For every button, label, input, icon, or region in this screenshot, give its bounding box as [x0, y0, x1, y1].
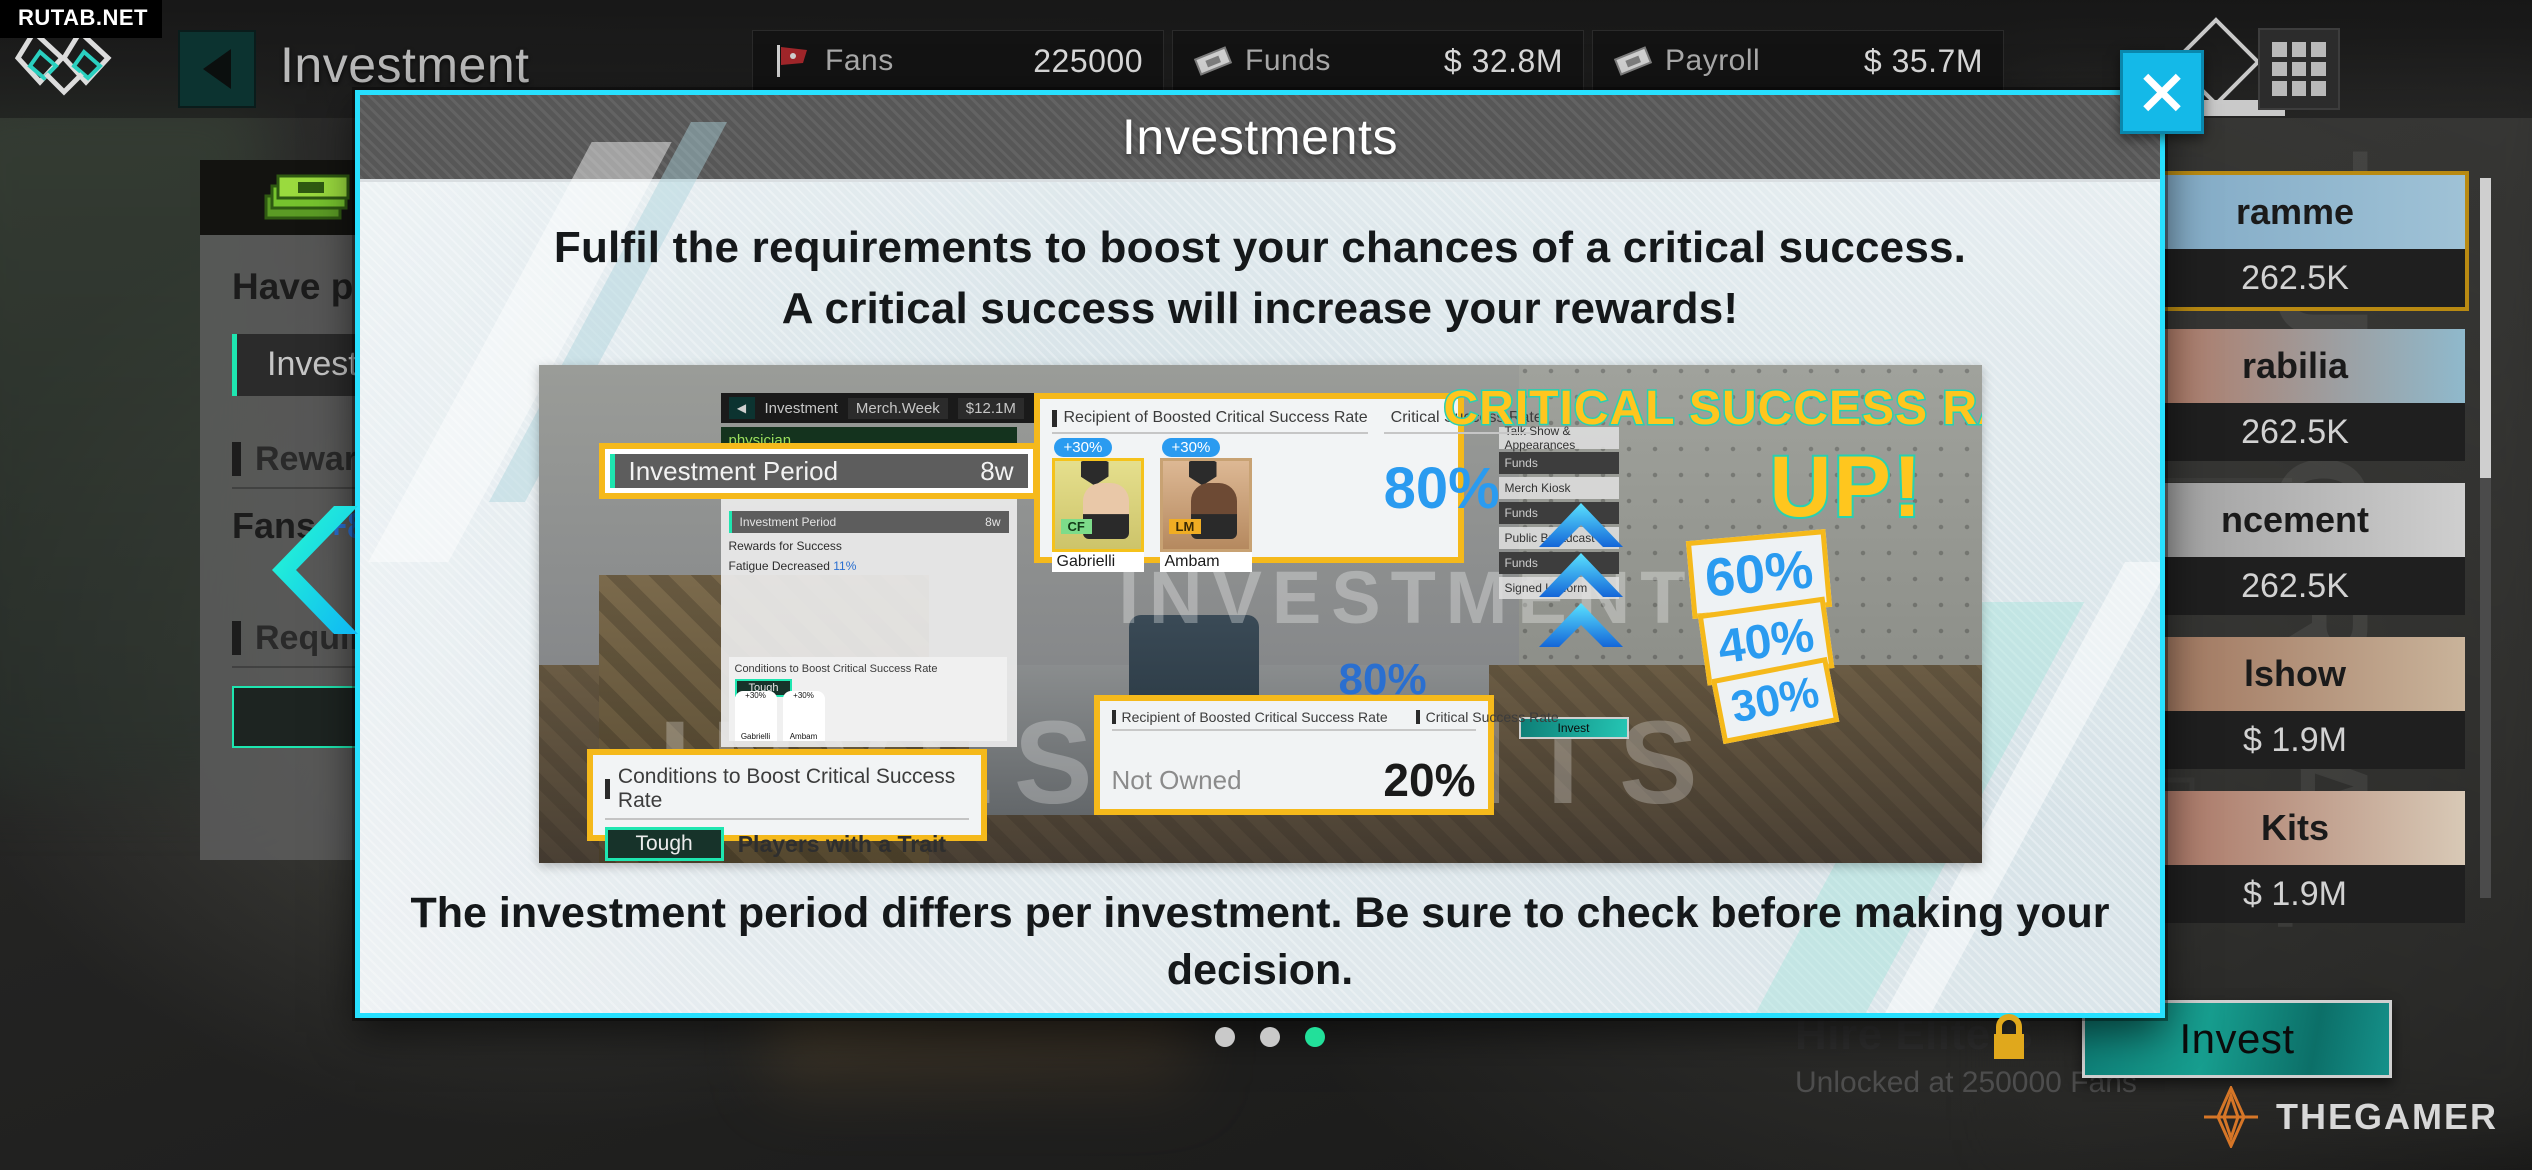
heading-bar-icon	[1052, 410, 1057, 427]
list-item-thumb: ncement	[2125, 483, 2465, 557]
not-owned-status: Not Owned	[1112, 765, 1242, 796]
stat-label: Funds	[1245, 44, 1331, 78]
player-name: Gabrielli	[1052, 552, 1144, 572]
list-item-price: 262.5K	[2125, 249, 2465, 307]
player-card: +30% CF Gabrielli	[1052, 442, 1144, 572]
mini-period-row: Investment Period 8w	[729, 511, 1009, 533]
boost-badge: +30%	[1054, 438, 1113, 457]
divider	[605, 818, 969, 820]
grid-menu-button[interactable]	[2258, 28, 2340, 110]
player-cards: +30% CF Gabrielli +30%	[1052, 442, 1368, 572]
stat-value: $ 32.8M	[1404, 43, 1563, 80]
mini-player-name: Gabrielli	[735, 732, 777, 741]
list-item-price: 262.5K	[2125, 403, 2465, 461]
outro-line-1: The investment period differs per invest…	[360, 885, 2160, 942]
player-art: CF	[1052, 458, 1144, 552]
not-owned-body: Not Owned 20%	[1112, 735, 1476, 807]
list-item[interactable]: ramme 262.5K	[2125, 175, 2465, 307]
page-dot[interactable]	[1260, 1027, 1280, 1047]
list-scrollbar[interactable]	[2480, 178, 2491, 898]
club-crest-icon	[1081, 458, 1109, 485]
outro-line-2: decision.	[360, 942, 2160, 999]
mini-rewards-label: Rewards for Success	[729, 539, 1009, 553]
list-item[interactable]: lshow $ 1.9M	[2125, 637, 2465, 769]
list-item-thumb: rabilia	[2125, 329, 2465, 403]
percent-badges: 60% 40% 30%	[1689, 535, 1829, 751]
player-art: LM	[1160, 458, 1252, 552]
mini-player-card: +30% Ambam	[783, 701, 825, 741]
page-dots[interactable]	[1215, 1027, 1325, 1047]
list-item[interactable]: rabilia 262.5K	[2125, 329, 2465, 461]
grid-cell	[2272, 81, 2287, 96]
player-position: LM	[1169, 519, 1202, 534]
list-item-price: 262.5K	[2125, 557, 2465, 615]
banner-line-1: CRITICAL SUCCESS RATE	[1444, 381, 1964, 436]
heading-bar	[232, 621, 241, 655]
list-item-thumb: lshow	[2125, 637, 2465, 711]
callout-conditions-row: Tough Players with a Trait	[605, 827, 969, 861]
stat-funds: Funds $ 32.8M	[1172, 30, 1584, 92]
grid-cell	[2272, 42, 2287, 57]
mini-rewards-value: Fatigue Decreased 11%	[729, 559, 1009, 573]
modal-outro: The investment period differs per invest…	[360, 863, 2160, 999]
up-arrows-icon	[1539, 503, 1623, 693]
list-item-price: $ 1.9M	[2125, 865, 2465, 923]
grid-cell	[2311, 62, 2326, 77]
heading-left: Recipient of Boosted Critical Success Ra…	[1112, 709, 1388, 725]
list-item[interactable]: ncement 262.5K	[2125, 483, 2465, 615]
flag-icon	[773, 43, 813, 79]
modal-body: Fulfil the requirements to boost your ch…	[360, 182, 2160, 1018]
back-arrow-icon	[203, 49, 231, 89]
thegamer-logo-icon	[2200, 1086, 2262, 1148]
page-dot-active[interactable]	[1305, 1027, 1325, 1047]
list-item-price: $ 1.9M	[2125, 711, 2465, 769]
trait-text: Players with a Trait	[738, 831, 946, 858]
recipient-heading: Recipient of Boosted Critical Success Ra…	[1052, 409, 1368, 427]
money-stack-icon	[260, 170, 352, 226]
callout-recipient: Recipient of Boosted Critical Success Ra…	[1034, 393, 1464, 563]
back-button[interactable]	[178, 30, 256, 108]
modal-title: Investments	[1122, 108, 1398, 166]
banner-line-2: UP!	[1444, 438, 1964, 537]
grid-cell	[2311, 81, 2326, 96]
critical-success-banner: CRITICAL SUCCESS RATE UP!	[1444, 381, 1964, 537]
stat-label: Fans	[825, 44, 894, 78]
callout-conditions: Conditions to Boost Critical Success Rat…	[587, 749, 987, 841]
thegamer-watermark: THEGAMER	[2200, 1086, 2498, 1148]
trait-tag: Tough	[605, 827, 724, 861]
player-position: CF	[1061, 519, 1092, 534]
close-icon	[2139, 69, 2185, 115]
page-title: Investment	[280, 36, 530, 94]
boost-badge: +30%	[1162, 438, 1221, 457]
divider	[1052, 432, 1368, 434]
intro-line-1: Fulfil the requirements to boost your ch…	[360, 218, 2160, 279]
club-crest-icon	[1189, 458, 1217, 485]
heading-bar	[232, 442, 241, 476]
money-icon	[1613, 43, 1653, 79]
mini-title: Investment	[765, 400, 838, 417]
grid-cell	[2311, 42, 2326, 57]
grid-cell	[2292, 42, 2307, 57]
modal-intro: Fulfil the requirements to boost your ch…	[360, 182, 2160, 339]
stat-value: $ 35.7M	[1824, 43, 1983, 80]
divider	[1112, 729, 1476, 731]
list-item-thumb: ramme	[2125, 175, 2465, 249]
game-screen: TUTORIAL Have pla teams. T fans. Investm…	[0, 0, 2532, 1170]
rutab-watermark: RUTAB.NET	[0, 0, 162, 38]
heading-bar-icon	[605, 779, 610, 799]
money-icon	[1193, 43, 1233, 79]
not-owned-rate: 20%	[1383, 753, 1475, 807]
list-item-thumb: Kits	[2125, 791, 2465, 865]
page-dot[interactable]	[1215, 1027, 1235, 1047]
close-button[interactable]	[2120, 50, 2204, 134]
stat-label: Payroll	[1665, 44, 1760, 78]
callout-period-value: 8w	[980, 456, 1013, 487]
player-card: +30% LM Ambam	[1160, 442, 1252, 572]
grid-cell	[2292, 81, 2307, 96]
callout-conditions-heading: Conditions to Boost Critical Success Rat…	[605, 765, 969, 813]
mini-period-label: Investment Period	[740, 515, 837, 529]
heading-bar-icon	[1112, 710, 1116, 724]
chevron-left-icon	[272, 500, 382, 640]
mini-conditions-label: Conditions to Boost Critical Success Rat…	[735, 663, 1001, 675]
tutorial-modal: Investments Fulfil the requirements to b…	[355, 90, 2165, 1018]
callout-investment-period: Investment Period 8w	[599, 443, 1039, 499]
mini-player-name: Ambam	[783, 732, 825, 741]
thegamer-label: THEGAMER	[2276, 1096, 2498, 1138]
investment-list[interactable]: ramme 262.5K rabilia 262.5K ncement 262.…	[2125, 175, 2465, 945]
mini-conditions-card: Conditions to Boost Critical Success Rat…	[729, 657, 1007, 741]
scrollbar-thumb[interactable]	[2480, 178, 2491, 478]
stat-value: 225000	[993, 43, 1143, 80]
list-item[interactable]: Kits $ 1.9M	[2125, 791, 2465, 923]
mini-player-faces: +30% Gabrielli +30% Ambam	[735, 701, 1001, 741]
heading-bar-icon	[1416, 710, 1420, 724]
callout-period-label: Investment Period	[629, 456, 839, 487]
mini-player-card: +30% Gabrielli	[735, 701, 777, 741]
callout-not-owned: Recipient of Boosted Critical Success Ra…	[1094, 695, 1494, 815]
grid-cell	[2272, 62, 2287, 77]
tutorial-screenshot: INVESTMENTS INVESTMENT ◀ Investment Merc…	[539, 365, 1982, 863]
heading-right: Critical Success Rate	[1416, 709, 1559, 725]
mini-back-icon: ◀	[729, 397, 755, 419]
mini-stat: $12.1M	[958, 398, 1024, 419]
grid-cell	[2292, 62, 2307, 77]
stat-fans: Fans 225000	[752, 30, 1164, 92]
mini-stat: Merch.Week	[848, 398, 948, 419]
stat-payroll: Payroll $ 35.7M	[1592, 30, 2004, 92]
mini-period-value: 8w	[985, 515, 1000, 529]
intro-line-2: A critical success will increase your re…	[360, 279, 2160, 340]
not-owned-headings: Recipient of Boosted Critical Success Ra…	[1112, 709, 1476, 725]
player-name: Ambam	[1160, 552, 1252, 572]
lock-icon	[1989, 1013, 2029, 1061]
